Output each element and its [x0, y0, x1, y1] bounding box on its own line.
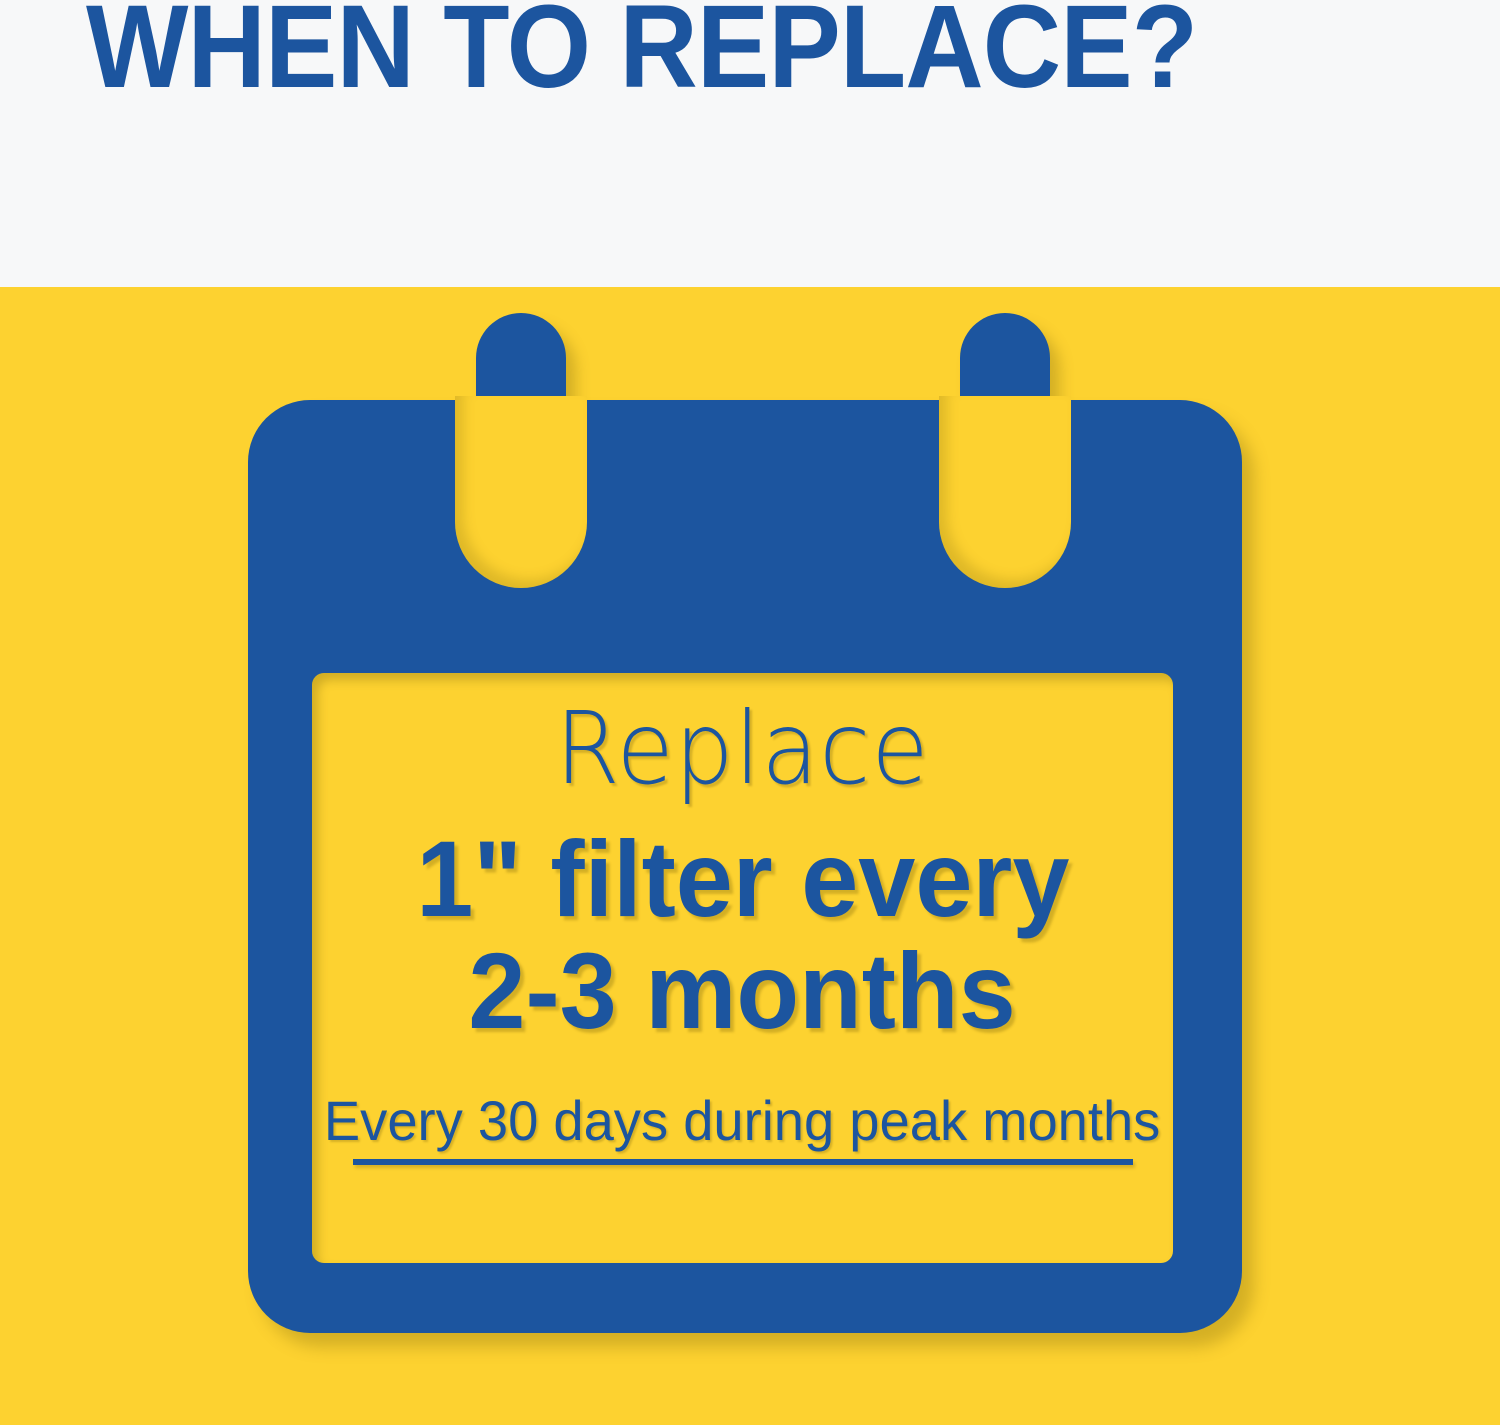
peak-months-footnote: Every 30 days during peak months [324, 1091, 1160, 1151]
footnote-group: Every 30 days during peak months [312, 1091, 1173, 1165]
calendar-notch-right [939, 396, 1071, 588]
replace-interval-line1: 1" filter every [416, 823, 1069, 935]
page-title: WHEN TO REPLACE? [86, 0, 1197, 106]
replace-heading: Replace [555, 691, 929, 807]
footnote-underline [353, 1159, 1133, 1165]
yellow-stage: Replace 1" filter every 2-3 months Every… [0, 287, 1500, 1425]
calendar-page: Replace 1" filter every 2-3 months Every… [312, 673, 1173, 1263]
calendar-icon: Replace 1" filter every 2-3 months Every… [0, 287, 1500, 1425]
replace-interval-line2: 2-3 months [469, 935, 1016, 1047]
calendar-notch-left [455, 396, 587, 588]
header-band: WHEN TO REPLACE? [0, 0, 1500, 287]
infographic-canvas: WHEN TO REPLACE? Replace 1" filter every… [0, 0, 1500, 1425]
